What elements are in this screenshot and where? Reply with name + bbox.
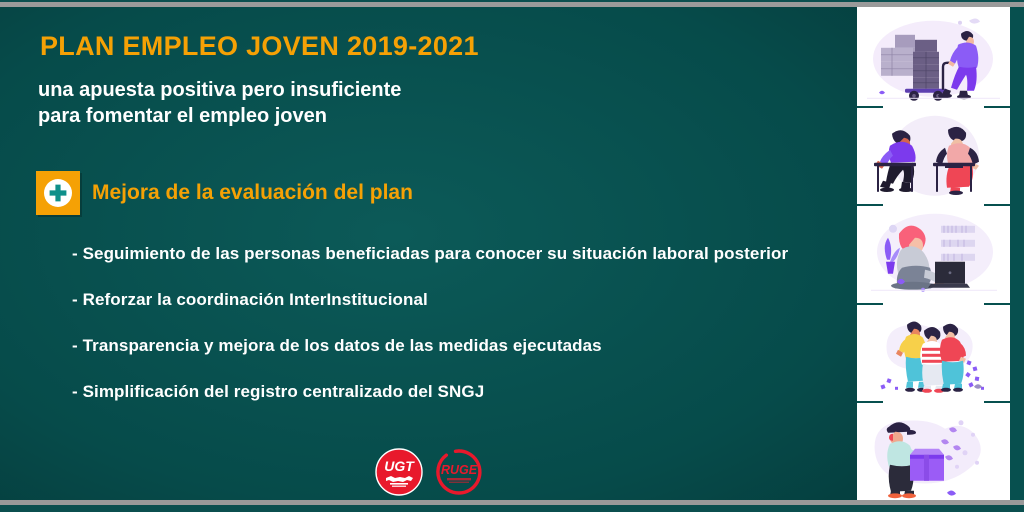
- logo-row: UGT RUGE: [0, 447, 857, 497]
- ruge-logo: RUGE: [434, 447, 484, 497]
- plus-circle-icon: [36, 171, 80, 215]
- window-chrome-top-bar: [0, 2, 1024, 7]
- subtitle-line-2: para fomentar el empleo joven: [38, 103, 401, 129]
- slide-canvas: PLAN EMPLEO JOVEN 2019-2021 una apuesta …: [0, 7, 857, 500]
- list-item: - Seguimiento de las personas beneficiad…: [72, 244, 842, 264]
- svg-text:RUGE: RUGE: [440, 463, 477, 477]
- subtitle-line-1: una apuesta positiva pero insuficiente: [38, 77, 401, 103]
- section-header: Mejora de la evaluación del plan: [36, 171, 413, 215]
- bullet-list: - Seguimiento de las personas beneficiad…: [72, 244, 842, 428]
- illustration-sidebar: [857, 7, 1010, 500]
- ugt-logo: UGT: [374, 447, 424, 497]
- students-at-desks-illustration: [857, 106, 1010, 205]
- delivery-worker-with-box-illustration: [857, 401, 1010, 500]
- warehouse-worker-cart-illustration: [857, 7, 1010, 106]
- svg-text:UGT: UGT: [384, 458, 415, 474]
- list-item: - Reforzar la coordinación InterInstituc…: [72, 290, 842, 310]
- woman-with-laptop-illustration: [857, 204, 1010, 303]
- window-chrome-bottom-bar: [0, 500, 1024, 505]
- list-item: - Simplificación del registro centraliza…: [72, 382, 842, 402]
- group-of-young-people-illustration: [857, 303, 1010, 402]
- list-item: - Transparencia y mejora de los datos de…: [72, 336, 842, 356]
- sidebar-right-gutter: [1010, 7, 1024, 500]
- page-subtitle: una apuesta positiva pero insuficiente p…: [38, 77, 401, 130]
- section-heading: Mejora de la evaluación del plan: [92, 181, 413, 205]
- page-title: PLAN EMPLEO JOVEN 2019-2021: [40, 31, 479, 62]
